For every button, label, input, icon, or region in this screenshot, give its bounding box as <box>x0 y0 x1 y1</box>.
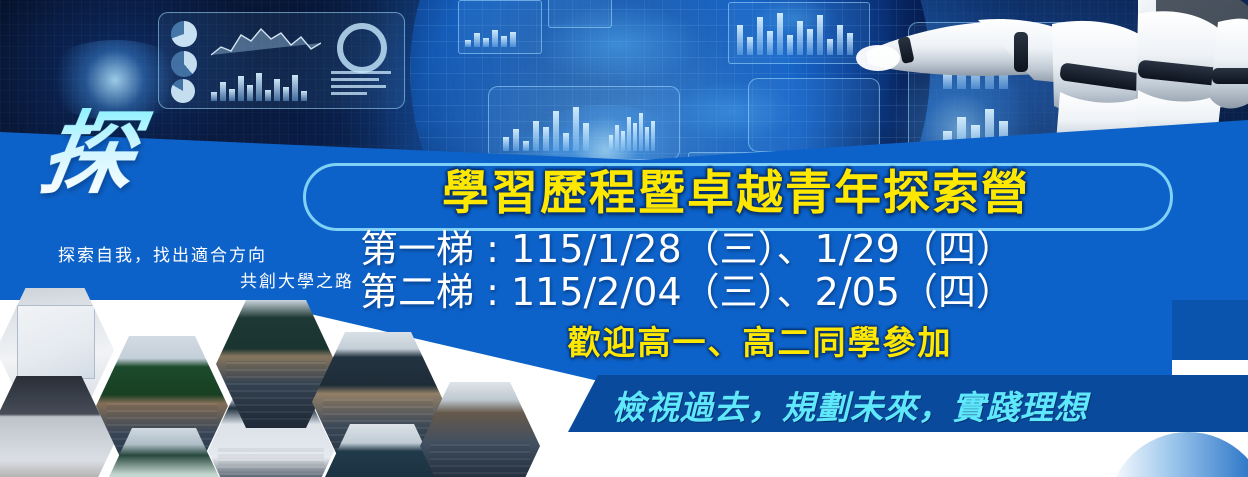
collage-photo <box>0 376 114 477</box>
donut-chart-icon <box>337 23 387 73</box>
bar-chart-icon <box>609 109 655 151</box>
photo-collage <box>0 288 500 477</box>
bar-chart-icon <box>211 71 307 101</box>
dashboard-panel-icon <box>158 12 405 109</box>
dashboard-panel-icon <box>548 0 612 28</box>
headline-title: 學習歷程暨卓越青年探索營 <box>316 168 1156 220</box>
explore-char-2: 索 <box>177 146 288 238</box>
corner-decoration-circle <box>1108 432 1248 477</box>
pie-chart-icon <box>171 21 197 47</box>
dashboard-panel-icon <box>458 0 542 54</box>
explore-logotype: 探索 <box>35 108 294 200</box>
dashboard-panel-icon <box>488 86 680 160</box>
text-lines-icon <box>331 71 391 95</box>
bar-chart-icon <box>503 103 589 151</box>
explore-char-1: 探 <box>34 100 147 207</box>
slogan-text: 檢視過去，規劃未來，實踐理想 <box>612 381 1232 429</box>
pie-chart-icon <box>171 79 195 103</box>
area-chart-icon <box>211 21 321 61</box>
tagline-line-1: 探索自我，找出適合方向 <box>58 243 358 269</box>
schedule-session-1: 第一梯 : 115/1/28（三）、1/29（四） <box>360 228 1160 271</box>
pie-chart-icon <box>171 51 197 77</box>
bar-chart-icon <box>737 11 853 55</box>
promotional-banner: 探索 探索自我，找出適合方向 共創大學之路 學習歷程暨卓越青年探索營 第一梯 :… <box>0 0 1248 477</box>
bar-chart-icon <box>465 29 516 47</box>
